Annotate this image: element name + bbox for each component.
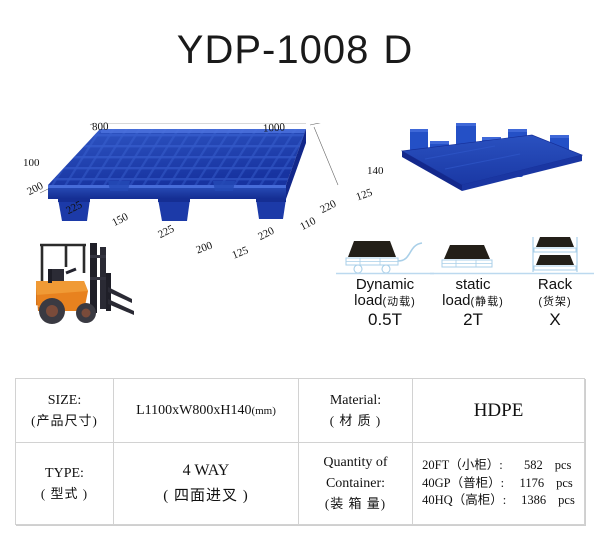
load-capacity-group: Dynamic load(动载) 0.5T xyxy=(336,235,594,355)
container-unit-40gp: pcs xyxy=(556,476,573,490)
container-unit-20ft: pcs xyxy=(555,458,572,472)
cell-material-label: Material: ( 材 质 ) xyxy=(299,379,413,443)
rack-load-icon xyxy=(516,235,594,277)
specification-table: SIZE: (产品尺寸) L1100xW800xH140(mm) Materia… xyxy=(15,378,585,525)
dimension-140: 140 xyxy=(367,165,384,177)
load-spec-dynamic: Dynamic load(动载) 0.5T xyxy=(336,235,434,330)
size-label-cn: (产品尺寸) xyxy=(31,413,98,428)
cell-size-value: L1100xW800xH140(mm) xyxy=(114,379,299,443)
container-label-en2: Container: xyxy=(326,476,385,491)
dimension-1000: 1000 xyxy=(263,121,286,134)
container-label-cn: (装 箱 量) xyxy=(325,496,386,511)
dimension-800: 800 xyxy=(92,121,109,134)
container-qty-40gp: 1176 xyxy=(504,475,544,493)
cell-size-label: SIZE: (产品尺寸) xyxy=(16,379,114,443)
forklift-icon xyxy=(22,225,142,335)
container-type-40hq: 40HQ（高柜）: xyxy=(422,493,506,507)
load-spec-static: static load(静载) 2T xyxy=(430,235,516,330)
size-label-en: SIZE: xyxy=(48,393,81,408)
type-value-en: 4 WAY xyxy=(183,462,230,479)
type-label-en: TYPE: xyxy=(45,466,84,481)
static-load-icon xyxy=(430,235,516,277)
dynamic-load-label: Dynamic load(动载) xyxy=(336,277,434,309)
material-label-en: Material: xyxy=(330,393,381,408)
dynamic-load-value: 0.5T xyxy=(336,310,434,330)
material-label-cn: ( 材 质 ) xyxy=(330,413,381,428)
container-label-en1: Quantity of xyxy=(323,455,387,470)
rack-load-value: X xyxy=(516,310,594,330)
list-item: 40HQ（高柜）:1386pcs xyxy=(422,492,575,510)
static-load-label: static load(静载) xyxy=(430,277,516,309)
type-label-cn: ( 型式 ) xyxy=(41,486,88,501)
material-value: HDPE xyxy=(474,400,524,421)
container-type-40gp: 40GP（普柜）: xyxy=(422,476,504,490)
container-qty-40hq: 1386 xyxy=(506,492,546,510)
illustration-area: 800 1000 100 140 200 225 150 225 200 125… xyxy=(0,95,600,360)
list-item: 20FT（小柜）:582pcs xyxy=(422,457,575,475)
container-qty-20ft: 582 xyxy=(503,457,543,475)
table-row: TYPE: ( 型式 ) 4 WAY ( 四面进叉 ) Quantity of … xyxy=(16,443,585,525)
product-spec-sheet: YDP-1008D xyxy=(0,0,600,539)
static-load-value: 2T xyxy=(430,310,516,330)
dynamic-load-icon xyxy=(336,235,434,277)
type-value-cn: ( 四面进叉 ) xyxy=(163,488,249,504)
cell-material-value: HDPE xyxy=(413,379,585,443)
pallet-underside-drawing xyxy=(400,115,585,210)
product-model: YDP-1008 xyxy=(177,28,370,72)
table-row: SIZE: (产品尺寸) L1100xW800xH140(mm) Materia… xyxy=(16,379,585,443)
container-type-20ft: 20FT（小柜）: xyxy=(422,458,503,472)
list-item: 40GP（普柜）:1176pcs xyxy=(422,475,575,493)
cell-type-label: TYPE: ( 型式 ) xyxy=(16,443,114,525)
product-variant: D xyxy=(383,28,413,72)
cell-container-value: 20FT（小柜）:582pcs 40GP（普柜）:1176pcs 40HQ（高柜… xyxy=(413,443,585,525)
size-unit: (mm) xyxy=(251,405,275,417)
size-value: L1100xW800xH140 xyxy=(136,403,251,418)
load-spec-rack: Rack (货架) X xyxy=(516,235,594,330)
rack-load-label: Rack (货架) xyxy=(516,277,594,309)
container-quantity-list: 20FT（小柜）:582pcs 40GP（普柜）:1176pcs 40HQ（高柜… xyxy=(422,457,575,510)
page-title: YDP-1008D xyxy=(0,28,600,73)
dimension-125-bottom: 125 xyxy=(230,244,250,261)
dimension-125-right: 125 xyxy=(354,187,374,204)
container-unit-40hq: pcs xyxy=(558,493,575,507)
cell-type-value: 4 WAY ( 四面进叉 ) xyxy=(114,443,299,525)
dimension-100: 100 xyxy=(23,157,40,169)
cell-container-label: Quantity of Container: (装 箱 量) xyxy=(299,443,413,525)
